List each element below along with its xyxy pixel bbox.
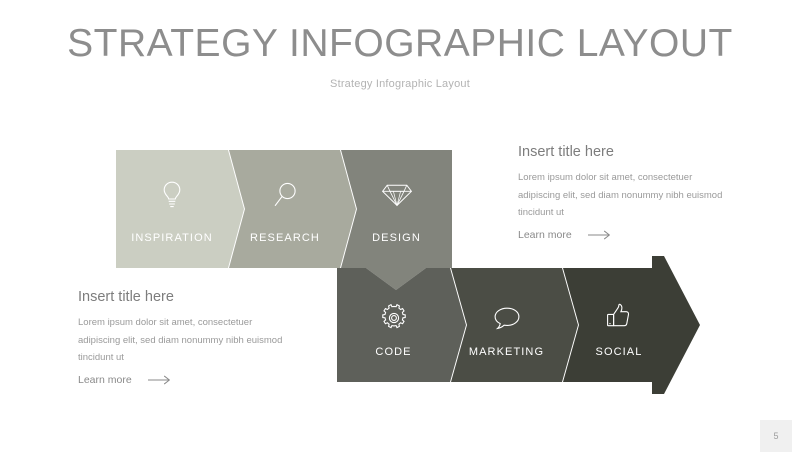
gear-icon [337,303,450,333]
step-design[interactable]: DESIGN [341,150,452,268]
learn-more-label-right: Learn more [518,229,572,241]
page-number: 5 [773,431,778,441]
text-block-left-body: Lorem ipsum dolor sit amet, consectetuer… [78,314,286,367]
arrow-right-icon [588,230,612,240]
learn-more-link-left[interactable]: Learn more [78,374,286,386]
text-block-right-body: Lorem ipsum dolor sit amet, consectetuer… [518,169,726,222]
learn-more-label-left: Learn more [78,374,132,386]
arrow-right-icon [148,375,172,385]
step-marketing[interactable]: MARKETING [451,268,562,382]
step-label-design: DESIGN [341,232,452,244]
thumbs-up-icon [563,302,675,332]
diamond-icon [341,182,452,208]
step-code[interactable]: CODE [337,268,450,382]
step-label-marketing: MARKETING [451,346,562,358]
learn-more-link-right[interactable]: Learn more [518,229,726,241]
lightbulb-icon [116,180,228,210]
step-inspiration[interactable]: INSPIRATION [116,150,228,268]
page-number-badge: 5 [760,420,792,452]
step-label-social: SOCIAL [563,346,675,358]
step-label-inspiration: INSPIRATION [116,232,228,244]
text-block-left: Insert title here Lorem ipsum dolor sit … [78,289,286,386]
step-social[interactable]: SOCIAL [563,268,675,382]
text-block-right: Insert title here Lorem ipsum dolor sit … [518,144,726,241]
slide-canvas: STRATEGY INFOGRAPHIC LAYOUT Strategy Inf… [0,0,800,450]
text-block-left-title: Insert title here [78,289,286,305]
step-label-research: RESEARCH [229,232,341,244]
text-block-right-title: Insert title here [518,144,726,160]
speech-bubble-icon [451,304,562,332]
step-research[interactable]: RESEARCH [229,150,341,268]
magnifier-icon [229,180,341,210]
step-label-code: CODE [337,346,450,358]
